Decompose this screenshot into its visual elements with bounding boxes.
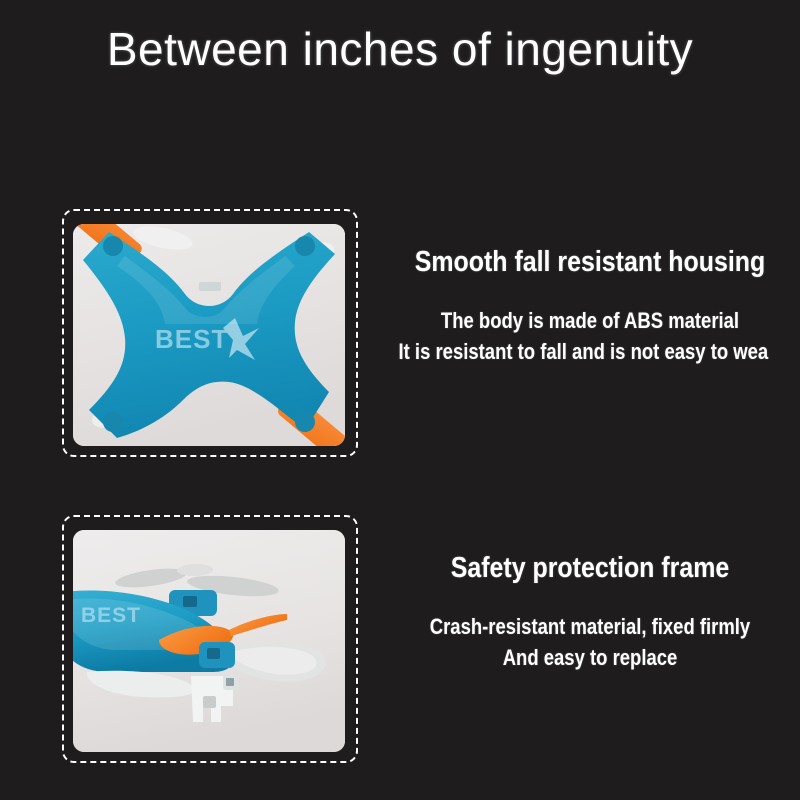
- page-headline: Between inches of ingenuity: [0, 22, 800, 76]
- svg-text:BEST: BEST: [81, 604, 141, 627]
- drone-angled-view-illustration: BEST: [73, 530, 345, 752]
- feature-line-1-2: It is resistant to fall and is not easy …: [399, 336, 765, 367]
- feature-text-2: Safety protection frame Crash-resistant …: [372, 552, 800, 673]
- feature-title-2: Safety protection frame: [403, 552, 778, 585]
- feature-line-2-1: Crash-resistant material, fixed firmly: [407, 611, 773, 642]
- feature-line-1-1: The body is made of ABS material: [407, 305, 773, 336]
- feature-title-1: Smooth fall resistant housing: [403, 246, 778, 279]
- product-feature-page: Between inches of ingenuity: [0, 0, 800, 800]
- brand-logo: BEST: [81, 604, 141, 627]
- feature-body-2: Crash-resistant material, fixed firmly A…: [372, 611, 800, 673]
- feature-image-1: BEST: [73, 224, 345, 446]
- feature-body-1: The body is made of ABS material It is r…: [372, 305, 800, 367]
- feature-text-1: Smooth fall resistant housing The body i…: [372, 246, 800, 367]
- sensor-module: [199, 282, 221, 291]
- feature-line-2-2: And easy to replace: [407, 642, 773, 673]
- svg-text:BEST: BEST: [155, 324, 228, 354]
- drone-top-view-illustration: BEST: [73, 224, 345, 446]
- feature-image-2: BEST: [73, 530, 345, 752]
